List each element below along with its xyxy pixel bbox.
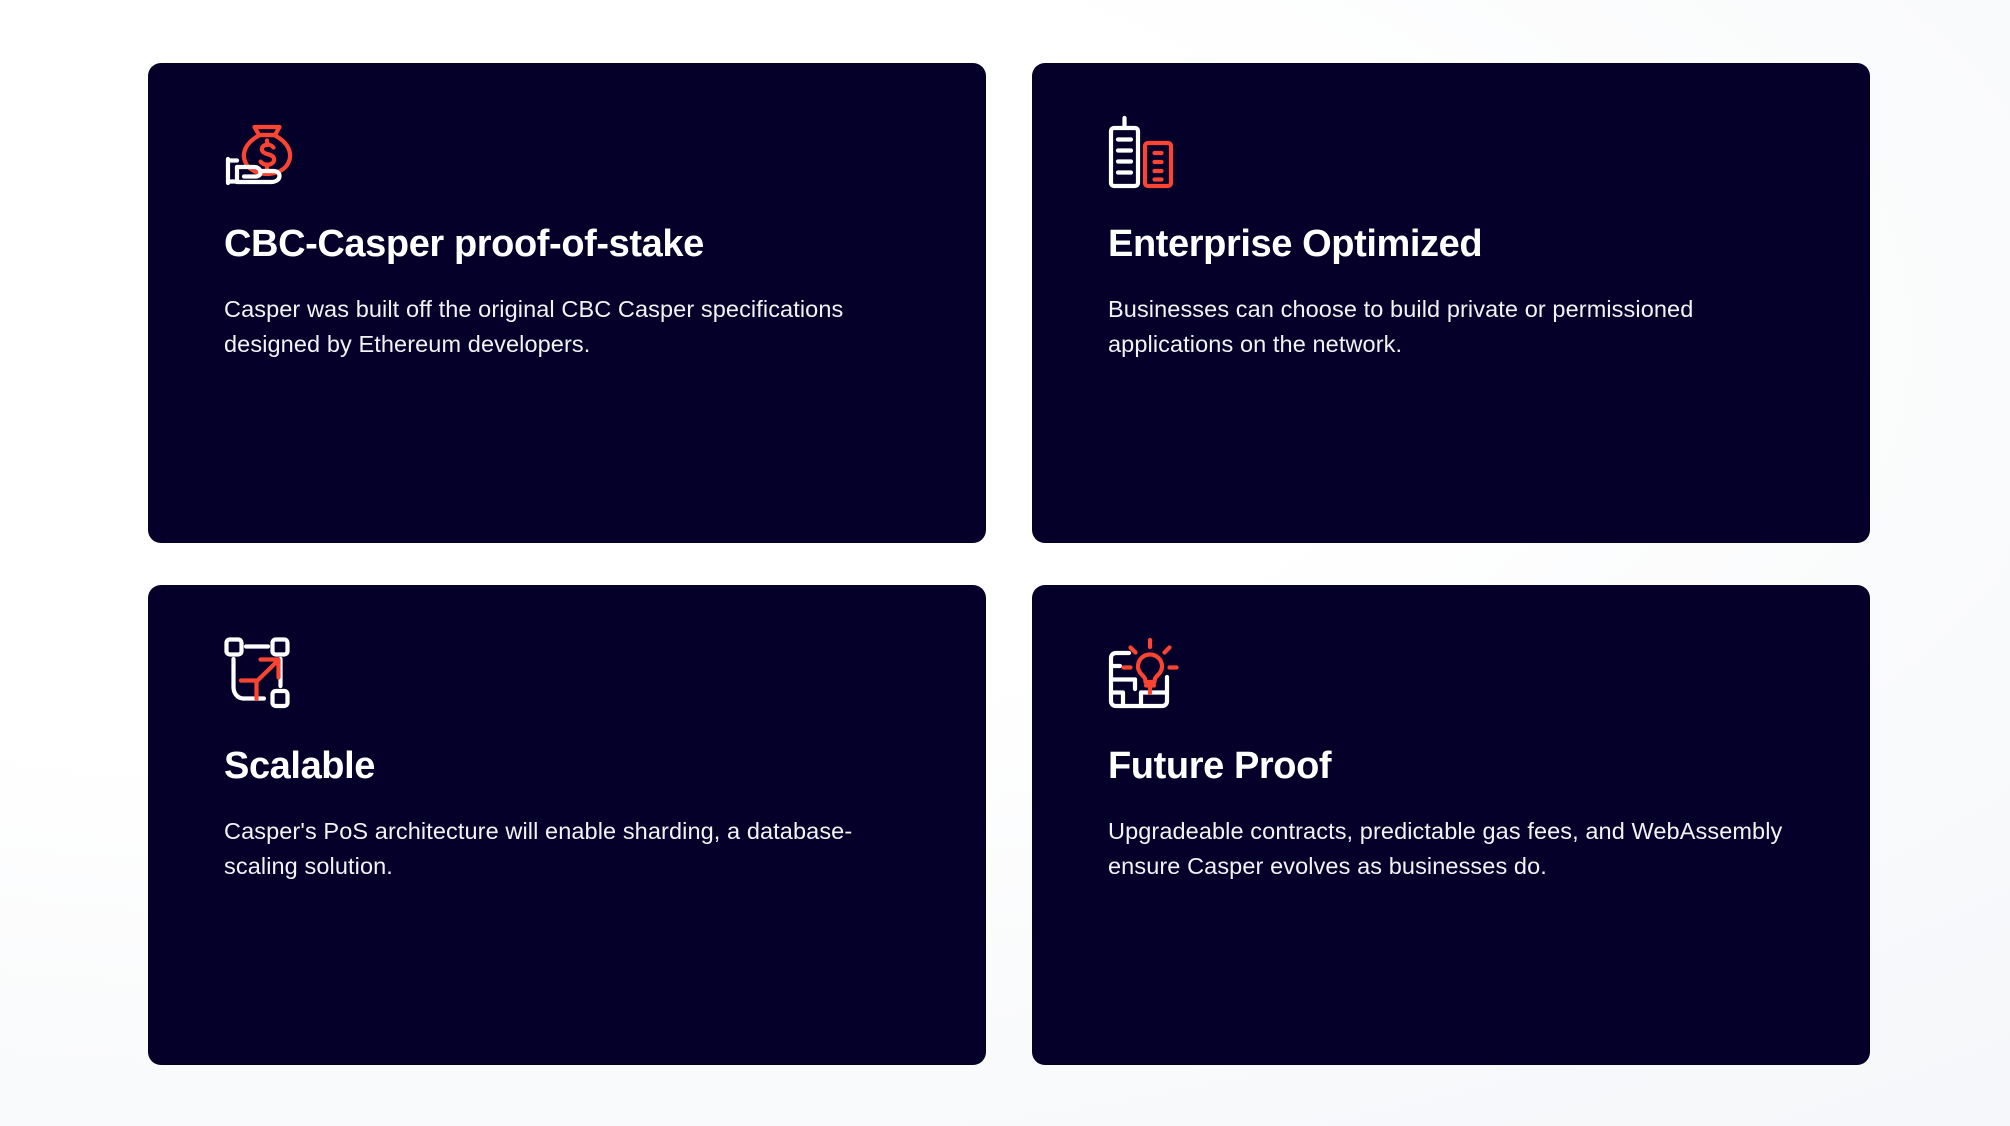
feature-card-title: Scalable [224, 745, 910, 788]
resize-expand-arrow-icon [224, 637, 302, 711]
feature-card-title: Enterprise Optimized [1108, 223, 1794, 266]
office-buildings-icon [1108, 115, 1186, 189]
feature-card-cbc-casper[interactable]: CBC-Casper proof-of-stake Casper was bui… [148, 63, 986, 543]
money-bag-in-hand-icon [224, 115, 302, 189]
blueprint-lightbulb-icon [1108, 637, 1186, 711]
feature-card-enterprise-optimized[interactable]: Enterprise Optimized Businesses can choo… [1032, 63, 1870, 543]
feature-card-description: Casper was built off the original CBC Ca… [224, 292, 910, 363]
feature-card-title: CBC-Casper proof-of-stake [224, 223, 910, 266]
feature-card-description: Upgradeable contracts, predictable gas f… [1108, 814, 1794, 885]
feature-card-description: Casper's PoS architecture will enable sh… [224, 814, 910, 885]
feature-card-description: Businesses can choose to build private o… [1108, 292, 1794, 363]
feature-card-title: Future Proof [1108, 745, 1794, 788]
feature-card-future-proof[interactable]: Future Proof Upgradeable contracts, pred… [1032, 585, 1870, 1065]
feature-card-scalable[interactable]: Scalable Casper's PoS architecture will … [148, 585, 986, 1065]
features-grid: CBC-Casper proof-of-stake Casper was bui… [148, 63, 1870, 1065]
